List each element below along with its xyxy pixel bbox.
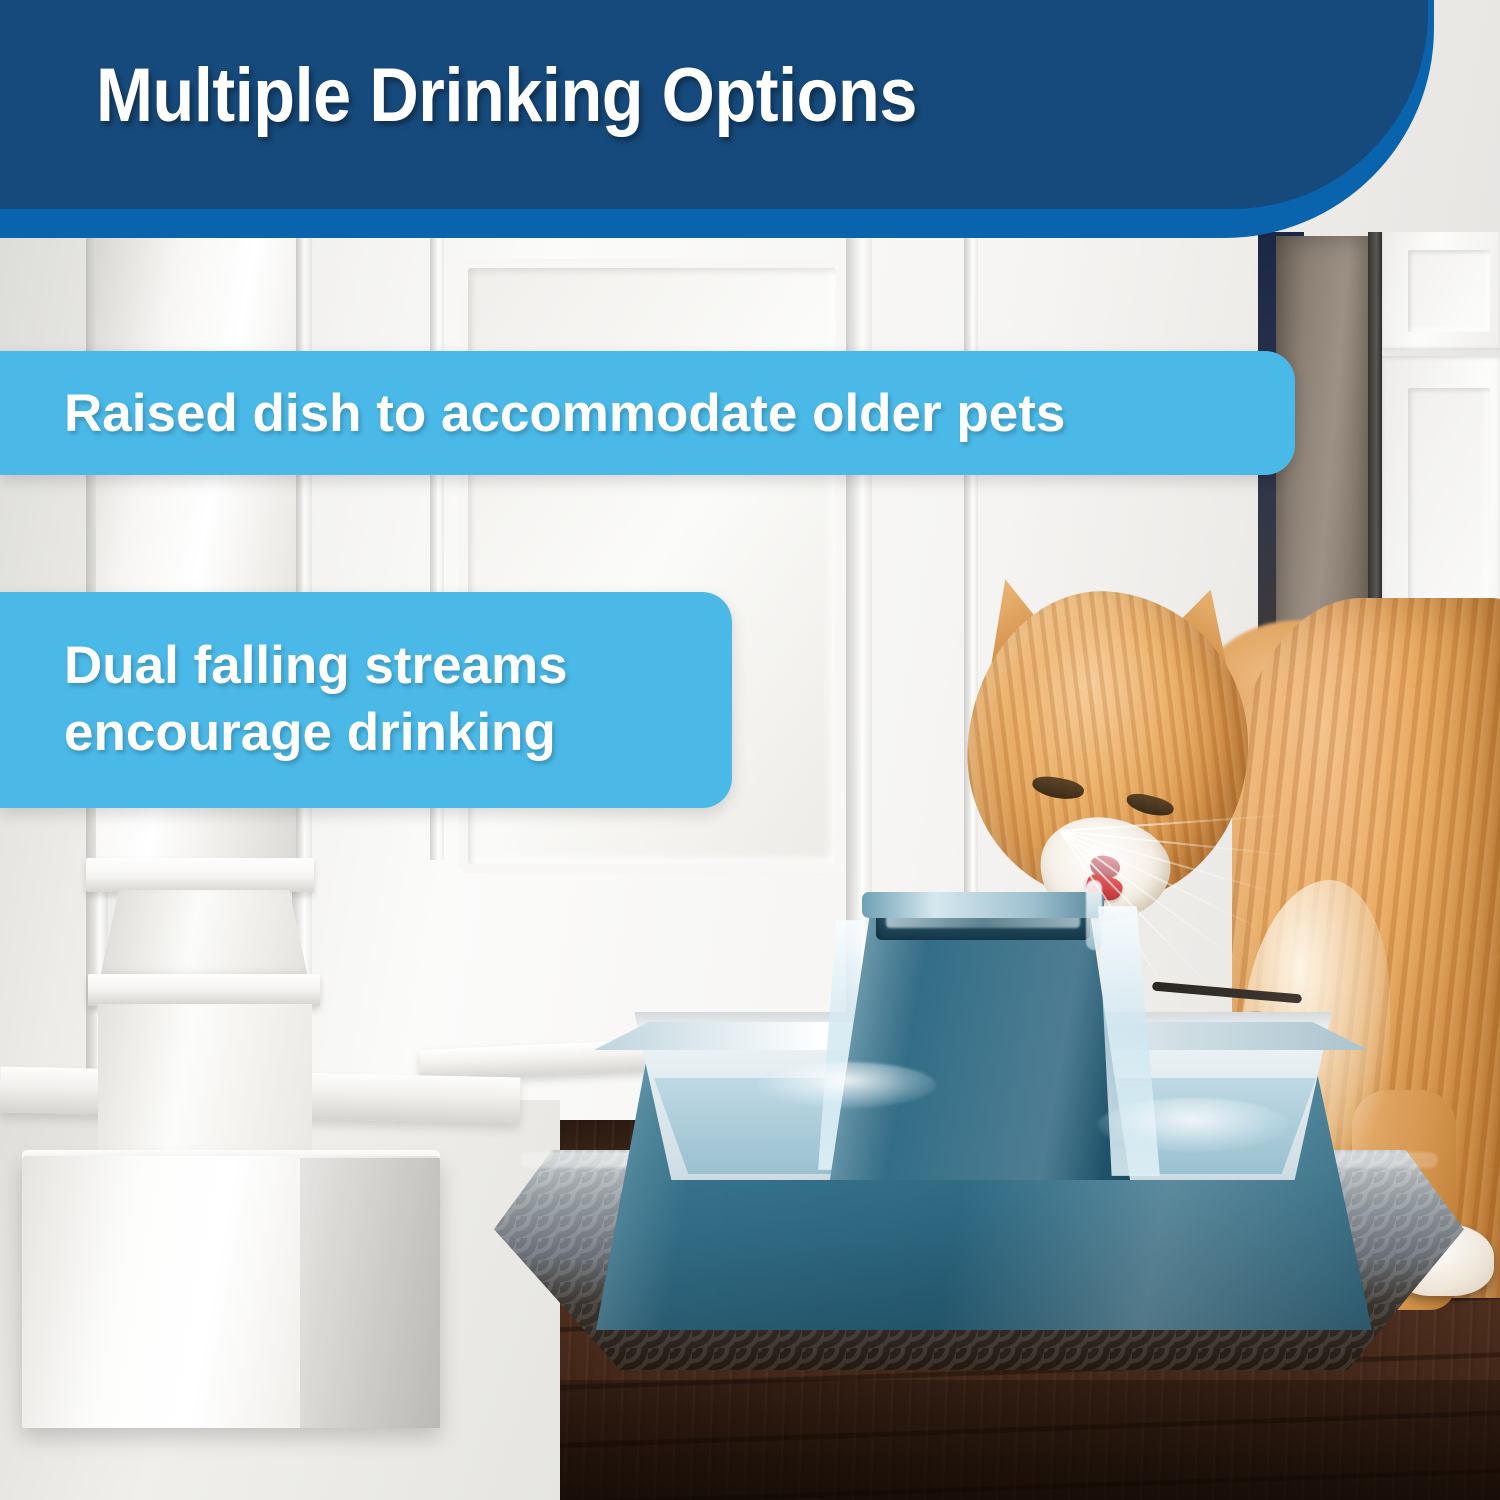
- water-splash-right: [1098, 1098, 1288, 1152]
- newel-post-cap: [86, 858, 314, 892]
- water-drip: [1086, 880, 1102, 950]
- callout-line: encourage drinking: [64, 700, 692, 767]
- fountain-raised-dish: [830, 900, 1130, 1180]
- newel-post-block: [98, 1004, 312, 1168]
- cabinet-upper: [1382, 232, 1500, 350]
- callout-line: Dual falling streams: [64, 633, 692, 700]
- page-title: Multiple Drinking Options: [96, 57, 1176, 135]
- feature-callout-dual-streams: Dual falling streams encourage drinking: [0, 592, 732, 808]
- fountain-raised-dish-rim: [862, 892, 1104, 918]
- water-splash-left: [756, 1062, 936, 1108]
- infographic-canvas: Multiple Drinking Options Raised dish to…: [0, 0, 1500, 1500]
- feature-callout-raised-dish: Raised dish to accommodate older pets: [0, 351, 1295, 475]
- newel-post-flare: [100, 890, 308, 978]
- callout-line: Raised dish to accommodate older pets: [64, 387, 1239, 440]
- newel-post-base-side: [300, 1158, 440, 1428]
- newel-post-cap: [88, 974, 320, 1006]
- wall-stile: [964, 232, 978, 980]
